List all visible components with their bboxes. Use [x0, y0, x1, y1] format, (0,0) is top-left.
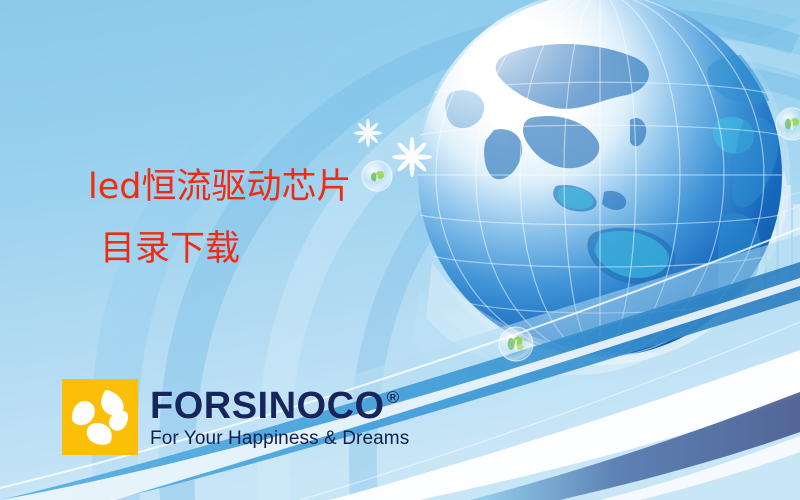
logo-tagline: For Your Happiness & Dreams	[150, 429, 409, 448]
logo-wordmark-text: FORSINOCO	[150, 387, 385, 425]
sparkle-icon-2	[392, 137, 432, 177]
four-petal-pinwheel-icon	[62, 379, 138, 455]
bubble-icon-1	[362, 161, 392, 191]
logo-wordmark: FORSINOCO ®	[150, 387, 409, 425]
headline-line-2: 目录下载	[100, 232, 240, 267]
promo-banner: led恒流驱动芯片 目录下载 FORSINOCO ®	[0, 0, 800, 500]
headline-line-1: led恒流驱动芯片	[88, 170, 351, 205]
brand-logo[interactable]: FORSINOCO ® For Your Happiness & Dreams	[62, 378, 409, 456]
registered-trademark-icon: ®	[387, 389, 400, 406]
sparkle-icon-1	[354, 119, 382, 147]
bubble-icon-2	[499, 327, 533, 361]
